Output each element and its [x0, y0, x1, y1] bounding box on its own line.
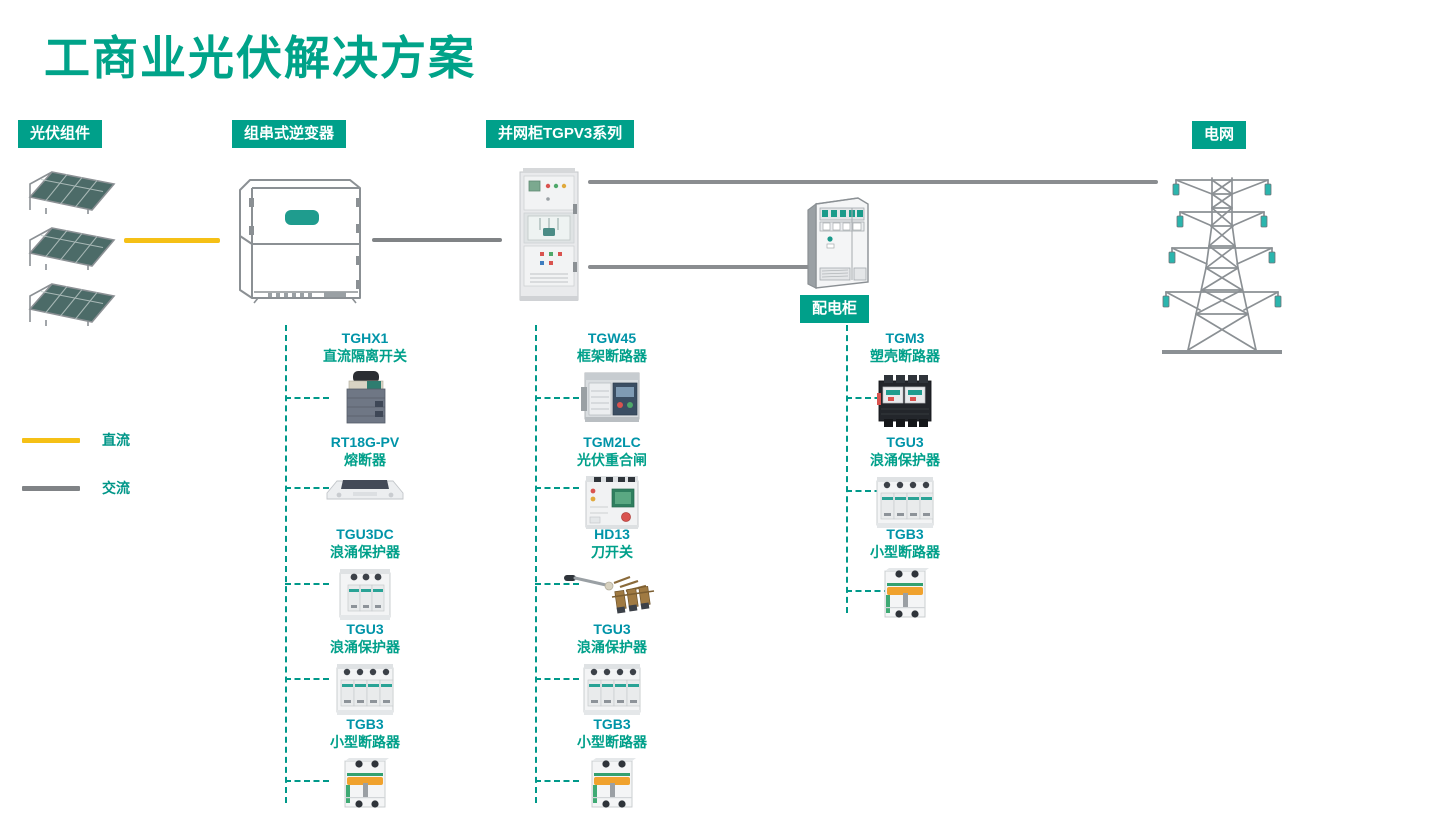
- product-tgb3-cabinet[interactable]: TGB3 小型断路器: [532, 716, 692, 813]
- product-name: 刀开关: [532, 544, 692, 562]
- product-tghx1[interactable]: TGHX1 直流隔离开关: [285, 330, 445, 427]
- mcb-2pole-icon: [877, 563, 933, 623]
- product-tgw45[interactable]: TGW45 框架断路器: [532, 330, 692, 425]
- product-code: TGU3: [285, 621, 445, 639]
- pv-array-3-icon: [22, 276, 122, 332]
- mcb-2pole-icon: [337, 753, 393, 813]
- product-tgb3-inverter[interactable]: TGB3 小型断路器: [285, 716, 445, 813]
- spd-4pole-icon: [871, 471, 939, 531]
- knife-switch-icon: [562, 563, 662, 619]
- wire-ac-inverter-to-grid-cabinet: [372, 238, 502, 242]
- legend-swatch-dc: [22, 438, 80, 443]
- product-name: 浪涌保护器: [285, 639, 445, 657]
- legend-swatch-ac: [22, 486, 80, 491]
- wire-dc-pv-to-inverter: [124, 238, 220, 243]
- product-name: 塑壳断路器: [825, 348, 985, 366]
- spd-4pole-icon: [578, 658, 646, 718]
- section-badge-pv-modules: 光伏组件: [18, 120, 102, 148]
- legend-item-dc: 直流: [22, 430, 130, 450]
- section-badge-distribution-cabinet: 配电柜: [800, 295, 869, 323]
- fuse-holder-icon: [323, 471, 407, 505]
- spd-4pole-icon: [331, 658, 399, 718]
- grid-cabinet-icon: [518, 168, 580, 302]
- pv-array-1-icon: [22, 164, 122, 220]
- product-name: 小型断路器: [532, 734, 692, 752]
- product-tgu3-distribution[interactable]: TGU3 浪涌保护器: [825, 434, 985, 531]
- spd-3pole-icon: [334, 563, 396, 623]
- mccb-4pole-icon: [871, 367, 939, 429]
- pv-array-2-icon: [22, 220, 122, 276]
- wire-ac-cabinet-to-distribution: [588, 265, 810, 269]
- product-code: TGHX1: [285, 330, 445, 348]
- product-code: TGW45: [532, 330, 692, 348]
- recloser-icon: [580, 471, 644, 531]
- product-name: 浪涌保护器: [285, 544, 445, 562]
- product-name: 熔断器: [285, 452, 445, 470]
- product-rt18g-pv[interactable]: RT18G-PV 熔断器: [285, 434, 445, 505]
- legend-label-ac: 交流: [102, 478, 130, 498]
- product-name: 光伏重合闸: [532, 452, 692, 470]
- product-name: 浪涌保护器: [825, 452, 985, 470]
- dc-isolator-switch-icon: [331, 367, 399, 427]
- section-badge-string-inverter: 组串式逆变器: [232, 120, 346, 148]
- page-title: 工商业光伏解决方案: [44, 22, 476, 88]
- product-code: RT18G-PV: [285, 434, 445, 452]
- product-hd13[interactable]: HD13 刀开关: [532, 526, 692, 619]
- product-tgm3[interactable]: TGM3 塑壳断路器: [825, 330, 985, 429]
- product-tgu3-inverter[interactable]: TGU3 浪涌保护器: [285, 621, 445, 718]
- wire-ac-cabinet-to-tower: [588, 180, 1158, 184]
- product-tgm2lc[interactable]: TGM2LC 光伏重合闸: [532, 434, 692, 531]
- product-code: TGU3DC: [285, 526, 445, 544]
- product-name: 直流隔离开关: [285, 348, 445, 366]
- product-code: TGB3: [285, 716, 445, 734]
- product-code: TGU3: [532, 621, 692, 639]
- product-name: 小型断路器: [825, 544, 985, 562]
- product-tgu3dc[interactable]: TGU3DC 浪涌保护器: [285, 526, 445, 623]
- legend-item-ac: 交流: [22, 478, 130, 498]
- product-code: HD13: [532, 526, 692, 544]
- section-badge-grid-cabinet: 并网柜TGPV3系列: [486, 120, 634, 148]
- string-inverter-icon: [232, 172, 372, 304]
- product-code: TGB3: [825, 526, 985, 544]
- product-name: 框架断路器: [532, 348, 692, 366]
- product-tgu3-cabinet[interactable]: TGU3 浪涌保护器: [532, 621, 692, 718]
- product-code: TGB3: [532, 716, 692, 734]
- air-circuit-breaker-icon: [577, 367, 647, 425]
- mcb-2pole-icon: [584, 753, 640, 813]
- product-name: 浪涌保护器: [532, 639, 692, 657]
- distribution-cabinet-icon: [806, 194, 872, 290]
- product-name: 小型断路器: [285, 734, 445, 752]
- product-code: TGM2LC: [532, 434, 692, 452]
- legend-label-dc: 直流: [102, 430, 130, 450]
- diagram-canvas: 工商业光伏解决方案 光伏组件 组串式逆变器 并网柜TGPV3系列 配电柜 电网 …: [0, 0, 1436, 829]
- section-badge-power-grid: 电网: [1192, 121, 1246, 149]
- transmission-tower-icon: [1160, 164, 1284, 360]
- product-code: TGM3: [825, 330, 985, 348]
- product-tgb3-distribution[interactable]: TGB3 小型断路器: [825, 526, 985, 623]
- product-code: TGU3: [825, 434, 985, 452]
